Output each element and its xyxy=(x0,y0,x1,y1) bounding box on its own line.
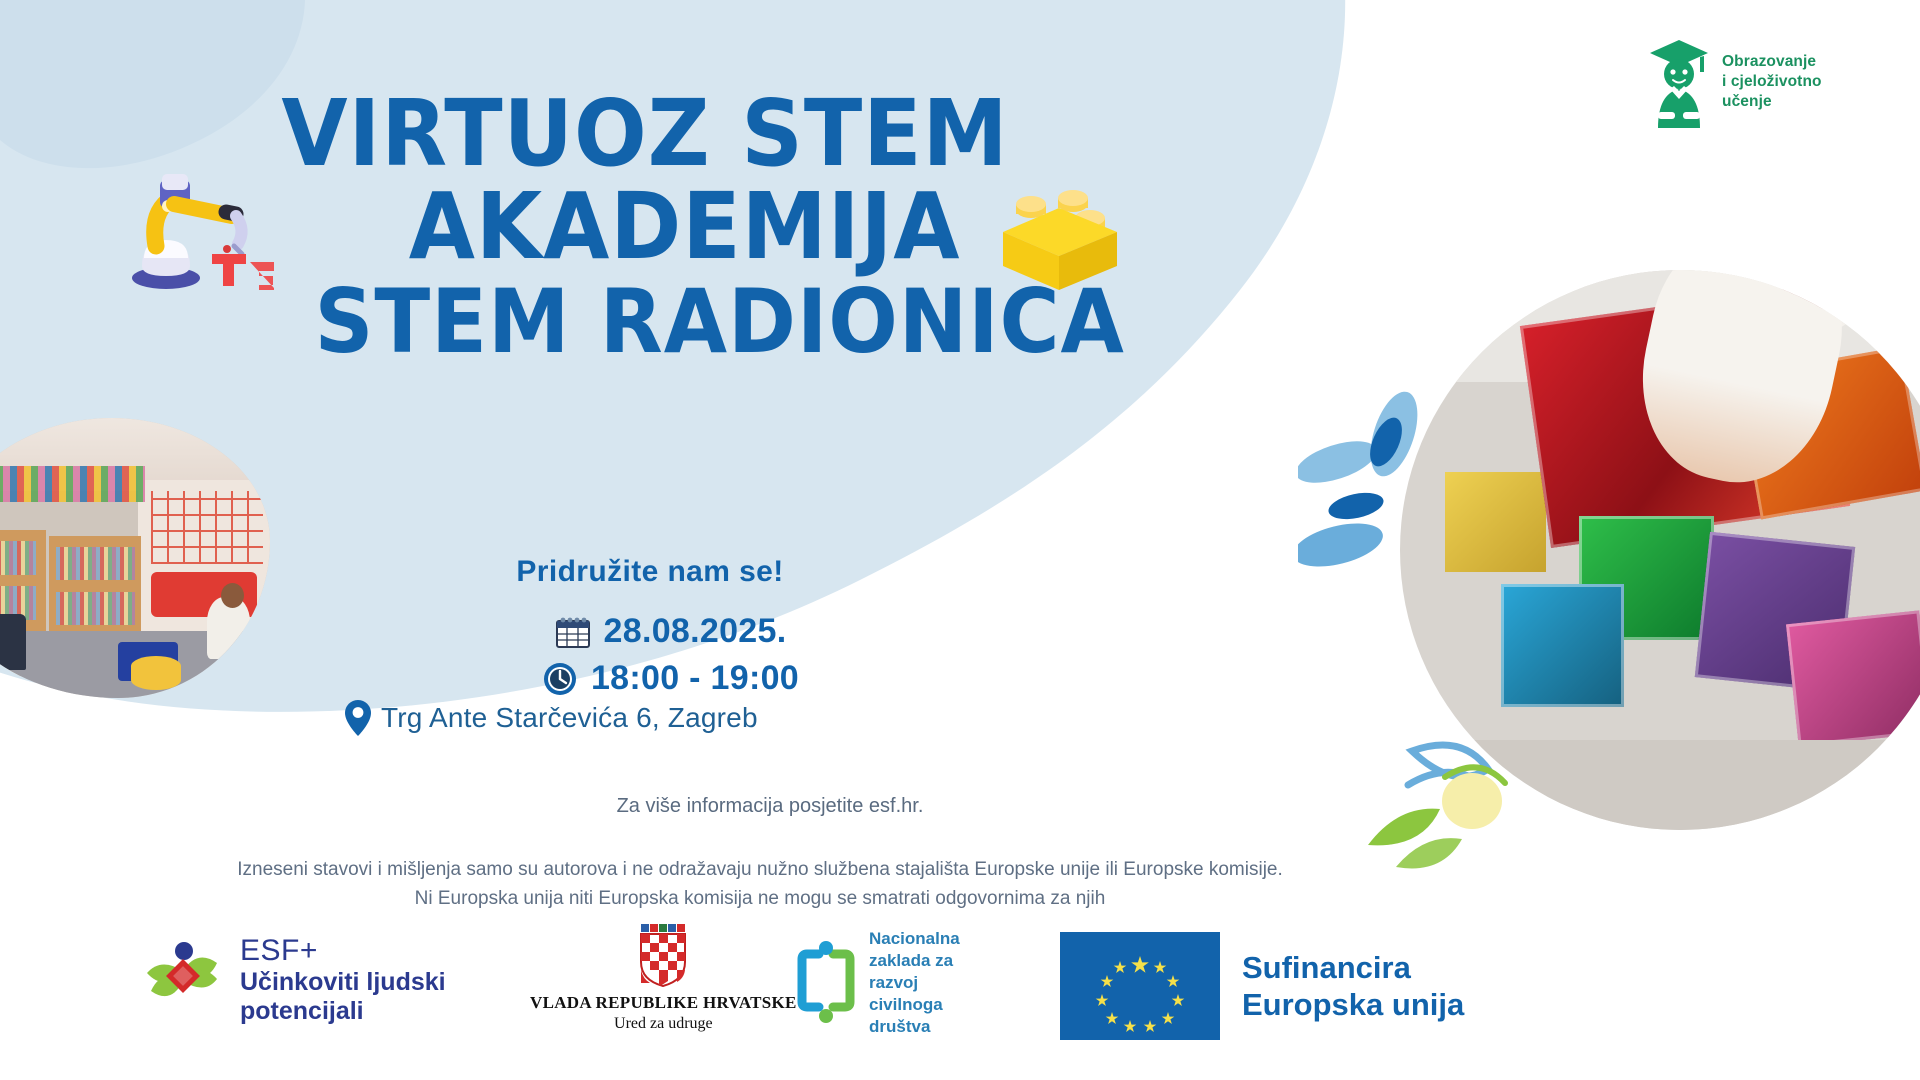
eu-line-1: Sufinancira xyxy=(1242,949,1464,986)
ministry-line-2: i cjeloživotno xyxy=(1722,72,1822,92)
event-time: 18:00 - 19:00 xyxy=(591,659,799,698)
eu-flag-icon xyxy=(1060,932,1220,1040)
national-foundation-text: Nacionalna zaklada za razvoj civilnoga d… xyxy=(869,928,960,1038)
disclaimer-line-2: Ni Europska unija niti Europska komisija… xyxy=(0,884,1520,913)
lego-brick-icon xyxy=(995,186,1125,296)
european-union-logo: Sufinancira Europska unija xyxy=(1060,932,1464,1040)
map-pin-icon xyxy=(345,700,371,736)
croatia-coat-of-arms-icon xyxy=(635,924,691,988)
nf-line-1: Nacionalna xyxy=(869,928,960,950)
esf-plus-title: ESF+ xyxy=(240,934,446,968)
tile-pink xyxy=(1786,611,1920,748)
poster-canvas: Obrazovanje i cjeloživotno učenje xyxy=(0,0,1920,1080)
government-title: VLADA REPUBLIKE HRVATSKE xyxy=(530,993,797,1013)
more-info-text: Za više informacija posjetite esf.hr. xyxy=(0,795,1540,818)
brackets-icon xyxy=(795,938,857,1028)
esf-pinwheel-icon xyxy=(140,937,226,1023)
headline-line-1: VIRTUOZ STEM xyxy=(281,80,1008,187)
esf-plus-text: ESF+ Učinkoviti ljudski potencijali xyxy=(240,934,446,1025)
headline-line-2: AKADEMIJA xyxy=(409,173,961,280)
nf-line-3: razvoj xyxy=(869,972,960,994)
national-foundation-logo: Nacionalna zaklada za razvoj civilnoga d… xyxy=(795,928,960,1038)
event-date-row: 28.08.2025. xyxy=(0,612,1340,651)
event-time-row: 18:00 - 19:00 xyxy=(0,659,1340,698)
library-toy-row xyxy=(0,466,145,502)
government-subtitle: Ured za udruge xyxy=(614,1015,713,1033)
disclaimer-block: Izneseni stavovi i mišljenja samo su aut… xyxy=(0,855,1520,914)
event-date: 28.08.2025. xyxy=(604,612,787,651)
croatian-government-logo: VLADA REPUBLIKE HRVATSKE Ured za udruge xyxy=(530,924,797,1033)
nf-line-2: zaklada za xyxy=(869,950,960,972)
event-location: Trg Ante Starčevića 6, Zagreb xyxy=(381,702,758,734)
disclaimer-line-1: Izneseni stavovi i mišljenja samo su aut… xyxy=(0,855,1520,884)
ministry-line-1: Obrazovanje xyxy=(1722,52,1822,72)
eu-line-2: Europska unija xyxy=(1242,986,1464,1023)
ministry-line-3: učenje xyxy=(1722,92,1822,112)
ministry-logo: Obrazovanje i cjeloživotno učenje xyxy=(1648,32,1898,132)
library-wall-grid xyxy=(151,491,263,564)
calendar-icon xyxy=(554,613,592,651)
clock-icon xyxy=(541,660,579,698)
esf-subtitle-line-1: Učinkoviti ljudski xyxy=(240,968,446,997)
event-datetime-block: 28.08.2025. 18:00 - 19:00 xyxy=(0,612,1340,706)
nf-line-4: civilnoga xyxy=(869,994,960,1016)
european-union-text: Sufinancira Europska unija xyxy=(1242,949,1464,1023)
graduate-student-icon xyxy=(1648,36,1710,128)
nf-line-5: društva xyxy=(869,1016,960,1038)
join-us-label: Pridružite nam se! xyxy=(0,555,1300,589)
tile-blue xyxy=(1501,584,1624,707)
esf-subtitle-line-2: potencijali xyxy=(240,997,446,1026)
esf-plus-logo: ESF+ Učinkoviti ljudski potencijali xyxy=(140,934,446,1025)
robot-arm-stem-icon xyxy=(108,146,278,291)
event-location-row: Trg Ante Starčevića 6, Zagreb xyxy=(345,700,758,736)
ministry-logo-text: Obrazovanje i cjeloživotno učenje xyxy=(1722,52,1822,111)
footer-logo-strip: ESF+ Učinkoviti ljudski potencijali xyxy=(0,924,1920,1054)
water-splash-doodle-icon xyxy=(1298,390,1468,600)
